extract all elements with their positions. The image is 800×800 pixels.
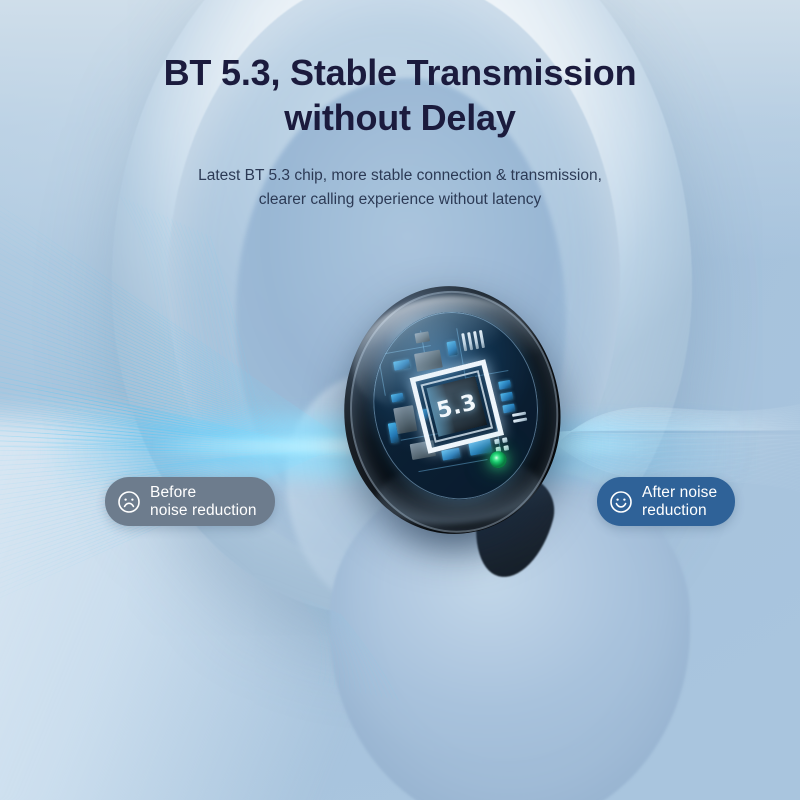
- badge-after-label: After noise reduction: [642, 484, 717, 519]
- earbud-product: 5.3: [338, 286, 570, 576]
- badge-before-noise-reduction[interactable]: Before noise reduction: [105, 477, 275, 526]
- sad-face-icon: [117, 490, 141, 514]
- badge-before-label: Before noise reduction: [150, 484, 257, 519]
- headline: BT 5.3, Stable Transmission without Dela…: [0, 50, 800, 141]
- earbud-transparent-dome: 5.3: [359, 299, 553, 513]
- smiley-face-icon: [609, 490, 633, 514]
- product-banner: 5.3 Before noise reduction After noise: [0, 0, 800, 800]
- subheadline: Latest BT 5.3 chip, more stable connecti…: [0, 164, 800, 211]
- badge-after-noise-reduction[interactable]: After noise reduction: [597, 477, 735, 526]
